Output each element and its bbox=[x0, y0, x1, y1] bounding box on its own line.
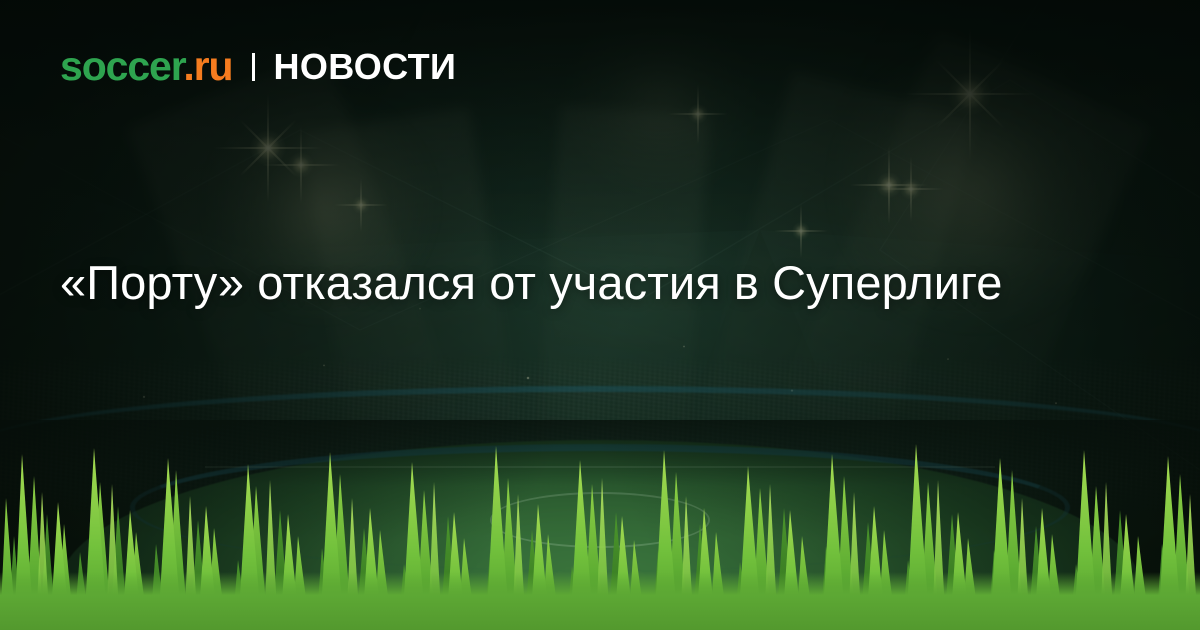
site-logo[interactable]: soccer.ru bbox=[60, 46, 232, 87]
grass-foreground bbox=[0, 440, 1200, 630]
logo-word-soccer: soccer bbox=[60, 43, 183, 89]
share-card: soccer.ru НОВОСТИ «Порту» отказался от у… bbox=[0, 0, 1200, 630]
vertical-bar-icon bbox=[252, 53, 255, 81]
grass-base bbox=[0, 572, 1200, 630]
section-label: НОВОСТИ bbox=[273, 49, 456, 85]
logo-word-tld: .ru bbox=[183, 43, 232, 89]
page-title: «Порту» отказался от участия в Суперлиге bbox=[60, 252, 1020, 314]
site-header: soccer.ru НОВОСТИ bbox=[60, 46, 456, 87]
